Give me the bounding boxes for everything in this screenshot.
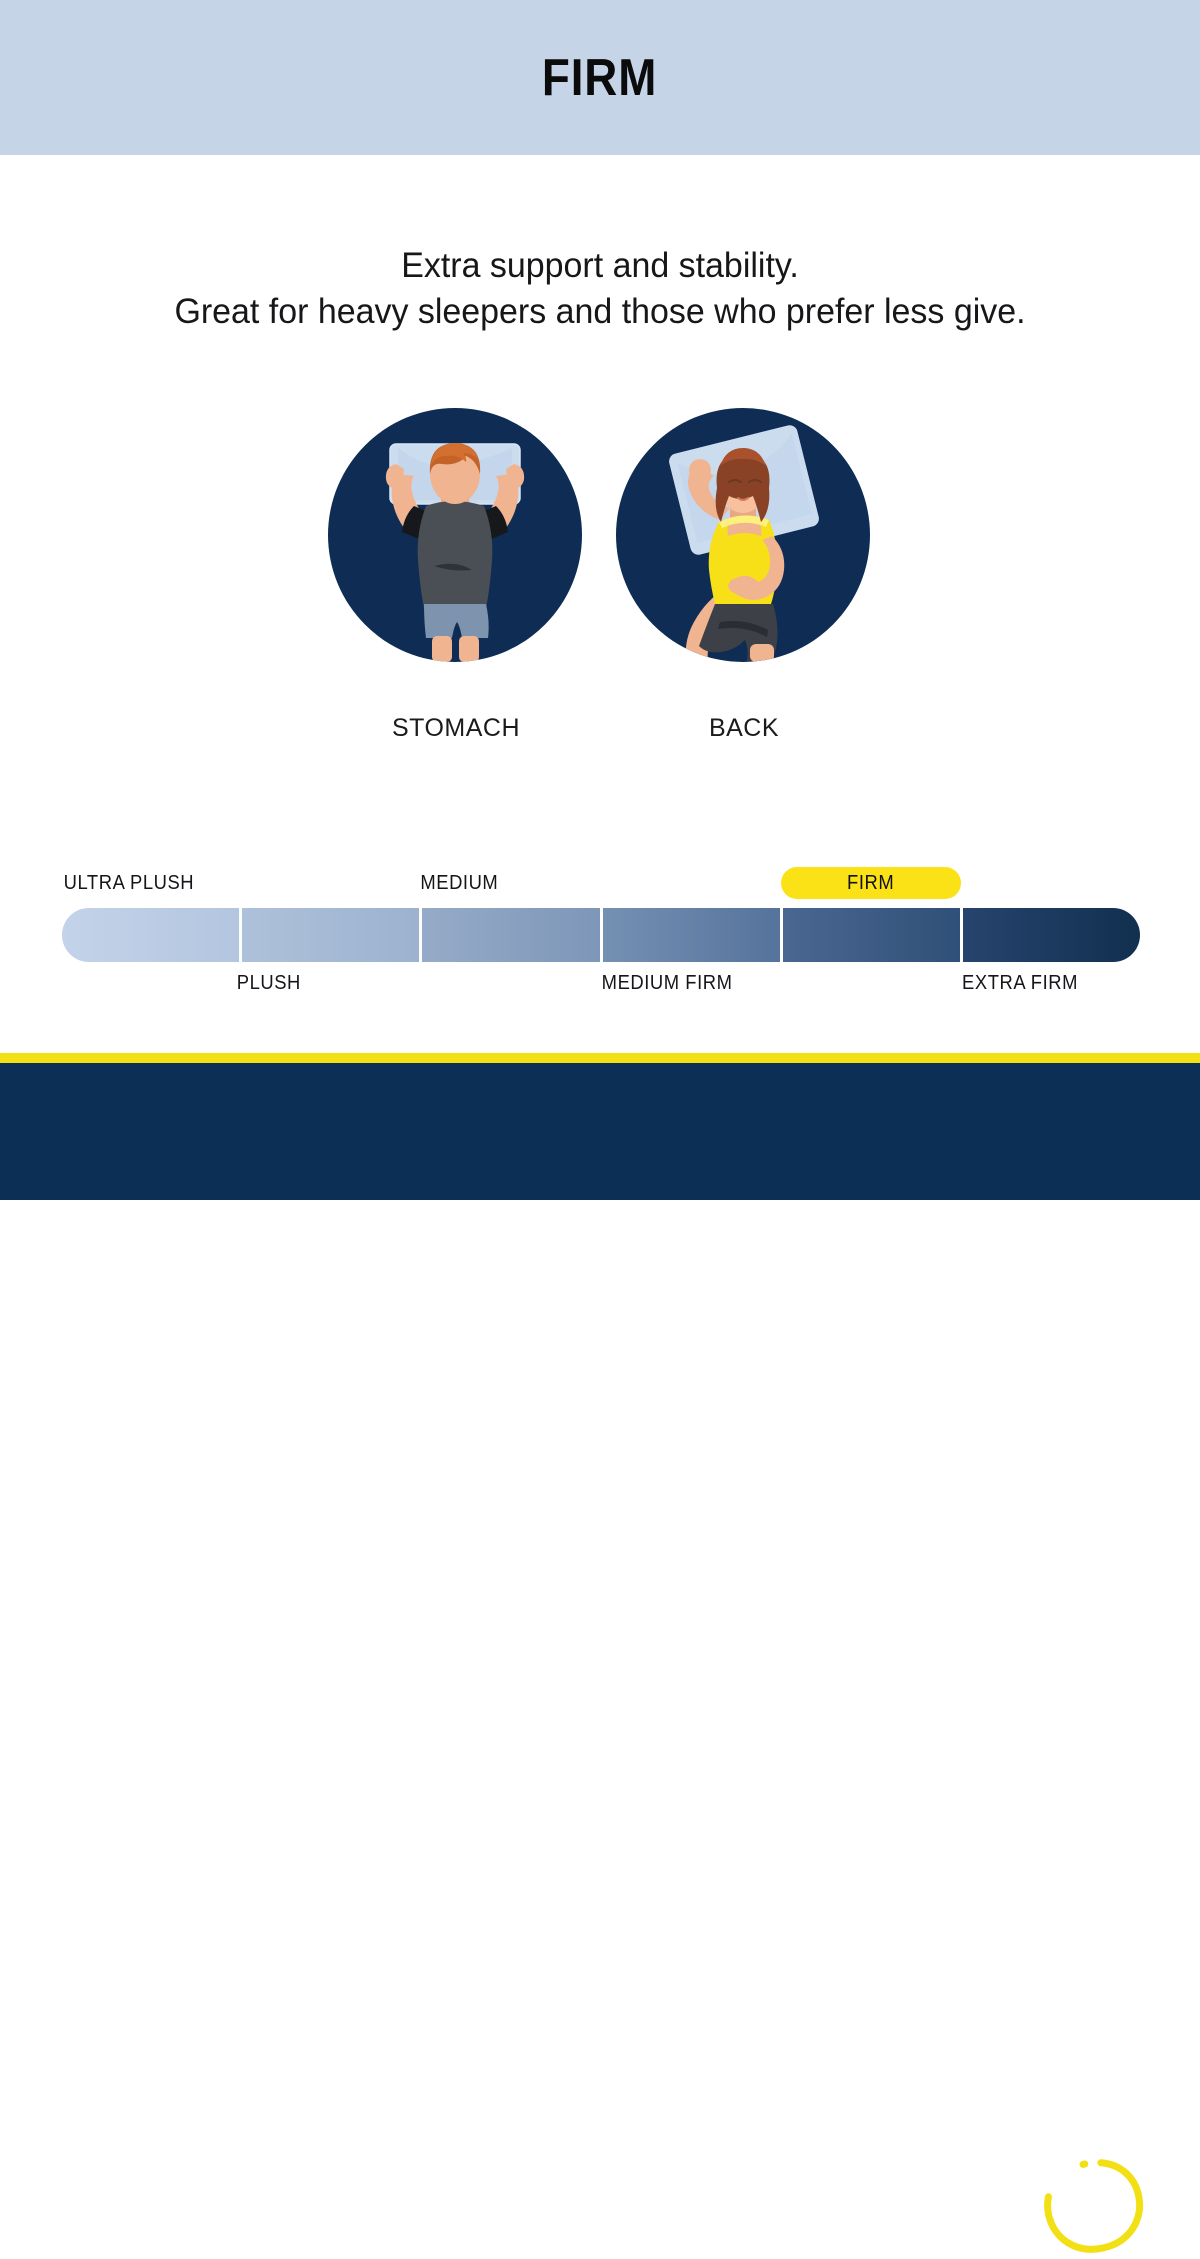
- position-label-back: BACK: [616, 714, 872, 743]
- subtitle-line-2: Great for heavy sleepers and those who p…: [18, 289, 1182, 335]
- firmness-segment-medium[interactable]: [422, 908, 599, 962]
- position-back: BACK: [616, 408, 872, 743]
- scale-label-medium-firm: MEDIUM FIRM: [602, 972, 733, 995]
- position-label-stomach: STOMACH: [328, 714, 584, 743]
- firmness-segment-ultra-plush[interactable]: [62, 908, 239, 962]
- firmness-segment-extra-firm[interactable]: [963, 908, 1140, 962]
- stomach-sleeper-icon: [328, 408, 582, 662]
- footer-band: Serta ®: [0, 1063, 1200, 1200]
- scale-label-medium: MEDIUM: [420, 872, 498, 895]
- scale-label-plush: PLUSH: [237, 972, 301, 995]
- footer-accent-rule: [0, 1053, 1200, 1063]
- firmness-segment-medium-firm[interactable]: [603, 908, 780, 962]
- serta-trademark: ®: [1137, 2228, 1143, 2237]
- back-sleeper-illustration: [616, 408, 870, 662]
- firmness-segment-firm[interactable]: [783, 908, 960, 962]
- position-stomach: STOMACH: [328, 408, 584, 743]
- scale-label-ultra-plush: ULTRA PLUSH: [64, 872, 194, 895]
- scale-label-extra-firm: EXTRA FIRM: [962, 972, 1078, 995]
- firmness-bar: [62, 908, 1140, 962]
- scale-selected-label: FIRM: [847, 872, 894, 895]
- sleep-positions: STOMACH: [0, 408, 1200, 748]
- firmness-scale: ULTRA PLUSH MEDIUM FIRM PLUSH MEDIUM FIR…: [62, 862, 1140, 1002]
- subtitle-line-1: Extra support and stability.: [18, 243, 1182, 289]
- header-band: FIRM: [0, 0, 1200, 155]
- back-sleeper-icon: [616, 408, 870, 662]
- serta-wordmark: Serta: [1051, 2187, 1133, 2230]
- scale-selected-badge-firm[interactable]: FIRM: [781, 867, 961, 899]
- firmness-segment-plush[interactable]: [242, 908, 419, 962]
- stomach-sleeper-illustration: [328, 408, 582, 662]
- subtitle: Extra support and stability. Great for h…: [0, 243, 1200, 335]
- page-title: FIRM: [542, 52, 657, 104]
- serta-logo[interactable]: Serta ®: [1036, 2155, 1152, 2259]
